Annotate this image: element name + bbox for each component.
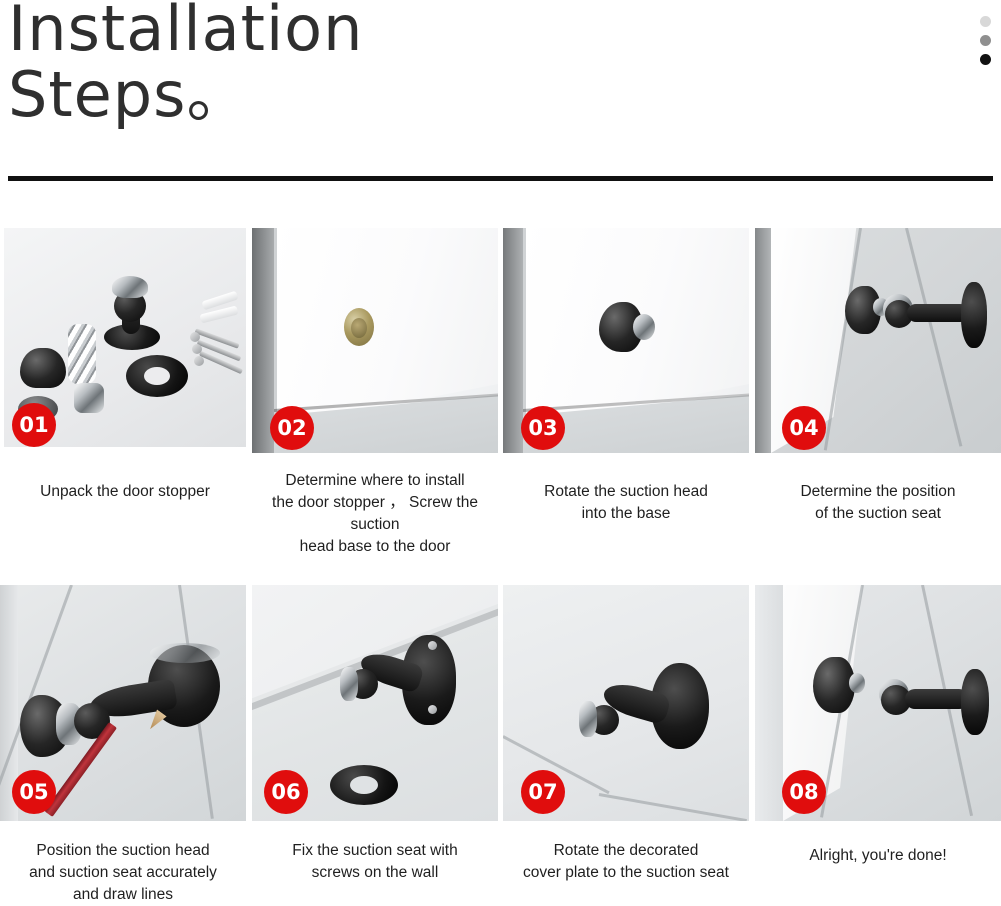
step-card-07: 07: [503, 585, 749, 821]
step-badge-07: 07: [521, 770, 565, 814]
step-caption-01: Unpack the door stopper: [4, 481, 246, 503]
step-caption-08: Alright, you're done!: [755, 845, 1001, 867]
step-caption-03: Rotate the suction head into the base: [503, 481, 749, 525]
step-badge-05: 05: [12, 770, 56, 814]
step-card-08: 08: [755, 585, 1001, 821]
step-caption-07: Rotate the decorated cover plate to the …: [503, 840, 749, 884]
step-caption-05: Position the suction head and suction se…: [0, 840, 246, 906]
step-badge-06: 06: [264, 770, 308, 814]
step-caption-02: Determine where to install the door stop…: [252, 470, 498, 558]
step-badge-04: 04: [782, 406, 826, 450]
step-caption-04: Determine the position of the suction se…: [755, 481, 1001, 525]
step-badge-03: 03: [521, 406, 565, 450]
step-badge-01: 01: [12, 403, 56, 447]
step-caption-06: Fix the suction seat with screws on the …: [252, 840, 498, 884]
step-card-02: 02: [252, 228, 498, 453]
installation-steps-page: Installation Steps。: [0, 0, 1001, 899]
step-card-05: 05: [0, 585, 246, 821]
step-card-03: 03: [503, 228, 749, 453]
step-badge-02: 02: [270, 406, 314, 450]
steps-grid: 01 Unpack the door stopper 02 Determine …: [0, 0, 1001, 899]
step-badge-08: 08: [782, 770, 826, 814]
step-card-06: 06: [252, 585, 498, 821]
step-card-01: 01: [4, 228, 246, 447]
step-card-04: 04: [755, 228, 1001, 453]
